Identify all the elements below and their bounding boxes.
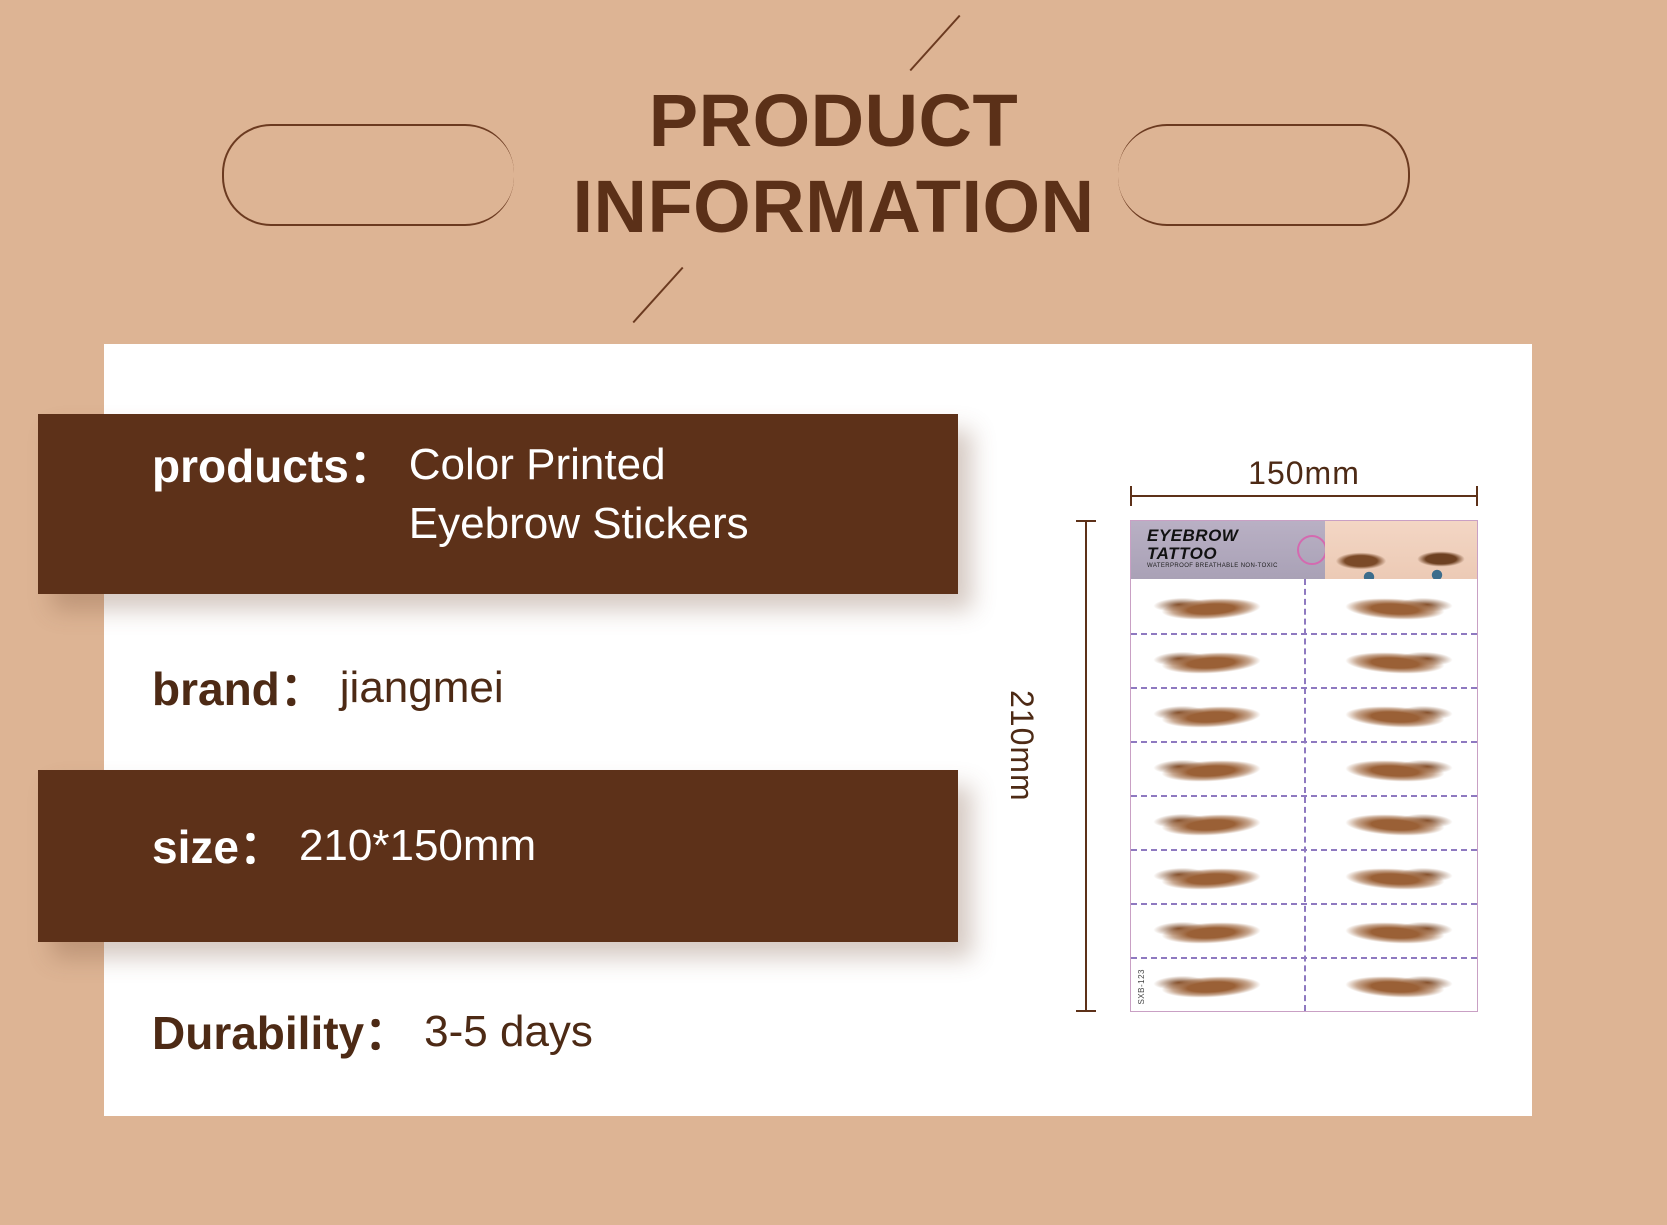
spec-row-size: size ： 210*150mm bbox=[152, 820, 536, 875]
sheet-divider-horizontal bbox=[1131, 849, 1477, 851]
sheet-header: EYEBROW TATTOO WATERPROOF BREATHABLE NON… bbox=[1131, 521, 1477, 579]
eyebrow-sticker bbox=[1145, 695, 1277, 735]
dimension-label-width: 150mm bbox=[1130, 455, 1478, 492]
sheet-product-code: SXB-123 bbox=[1137, 969, 1146, 1005]
diagonal-slash-bottom-icon bbox=[632, 267, 683, 323]
eyebrow-sticker bbox=[1329, 749, 1461, 789]
spec-row-products: products ： Color Printed Eyebrow Sticker… bbox=[152, 436, 749, 554]
dimension-arrow-height bbox=[1085, 520, 1087, 1012]
spec-label-products: products bbox=[152, 436, 349, 498]
spec-value-durability: 3-5 days bbox=[424, 1006, 593, 1059]
dimension-arrow-width bbox=[1130, 495, 1478, 497]
sheet-divider-horizontal bbox=[1131, 687, 1477, 689]
sheet-divider-horizontal bbox=[1131, 633, 1477, 635]
spec-row-durability: Durability ： 3-5 days bbox=[152, 1006, 593, 1061]
eyebrow-sticker bbox=[1145, 965, 1277, 1005]
spec-label-durability: Durability bbox=[152, 1006, 364, 1061]
page-title: PRODUCT INFORMATION bbox=[0, 78, 1667, 250]
spec-row-brand: brand ： jiangmei bbox=[152, 662, 504, 717]
model-face-photo bbox=[1325, 521, 1477, 579]
eyebrow-sticker bbox=[1329, 857, 1461, 897]
eyebrow-sticker bbox=[1145, 749, 1277, 789]
eyebrow-sticker bbox=[1145, 587, 1277, 627]
eyebrow-sticker bbox=[1145, 911, 1277, 951]
eyebrow-sticker bbox=[1329, 587, 1461, 627]
page-title-line-2: INFORMATION bbox=[0, 164, 1667, 250]
sheet-divider-horizontal bbox=[1131, 957, 1477, 959]
sheet-brand-text: EYEBROW TATTOO bbox=[1147, 527, 1238, 563]
spec-label-brand: brand bbox=[152, 662, 280, 717]
eyebrow-sticker bbox=[1145, 641, 1277, 681]
spec-value-size: 210*150mm bbox=[299, 820, 536, 873]
spec-colon-durability: ： bbox=[364, 1006, 410, 1061]
sheet-brand-line-1: EYEBROW bbox=[1147, 527, 1238, 545]
eyebrow-sticker bbox=[1329, 695, 1461, 735]
eyebrow-sticker bbox=[1329, 911, 1461, 951]
spec-label-size: size bbox=[152, 820, 239, 875]
dimension-label-height: 210mm bbox=[1003, 690, 1040, 802]
sheet-tagline: WATERPROOF BREATHABLE NON-TOXIC bbox=[1147, 563, 1278, 569]
spec-colon-size: ： bbox=[239, 820, 285, 875]
spec-colon-products: ： bbox=[349, 436, 395, 498]
sheet-circle-icon bbox=[1297, 535, 1327, 565]
eyebrow-sticker bbox=[1145, 857, 1277, 897]
eyebrow-sticker bbox=[1329, 803, 1461, 843]
spec-value-brand: jiangmei bbox=[340, 662, 504, 715]
eyebrow-sticker bbox=[1329, 965, 1461, 1005]
eyebrow-sticker bbox=[1329, 641, 1461, 681]
sheet-brand-line-2: TATTOO bbox=[1147, 545, 1238, 563]
page-title-line-1: PRODUCT bbox=[0, 78, 1667, 164]
spec-colon-brand: ： bbox=[280, 662, 326, 717]
diagonal-slash-top-icon bbox=[909, 15, 960, 71]
spec-value-products: Color Printed Eyebrow Stickers bbox=[409, 436, 749, 554]
sheet-divider-horizontal bbox=[1131, 903, 1477, 905]
product-sticker-sheet: EYEBROW TATTOO WATERPROOF BREATHABLE NON… bbox=[1130, 520, 1478, 1012]
sheet-divider-horizontal bbox=[1131, 795, 1477, 797]
poster-canvas: PRODUCT INFORMATION products ： Color Pri… bbox=[0, 0, 1667, 1225]
eyebrow-sticker bbox=[1145, 803, 1277, 843]
sheet-divider-horizontal bbox=[1131, 741, 1477, 743]
